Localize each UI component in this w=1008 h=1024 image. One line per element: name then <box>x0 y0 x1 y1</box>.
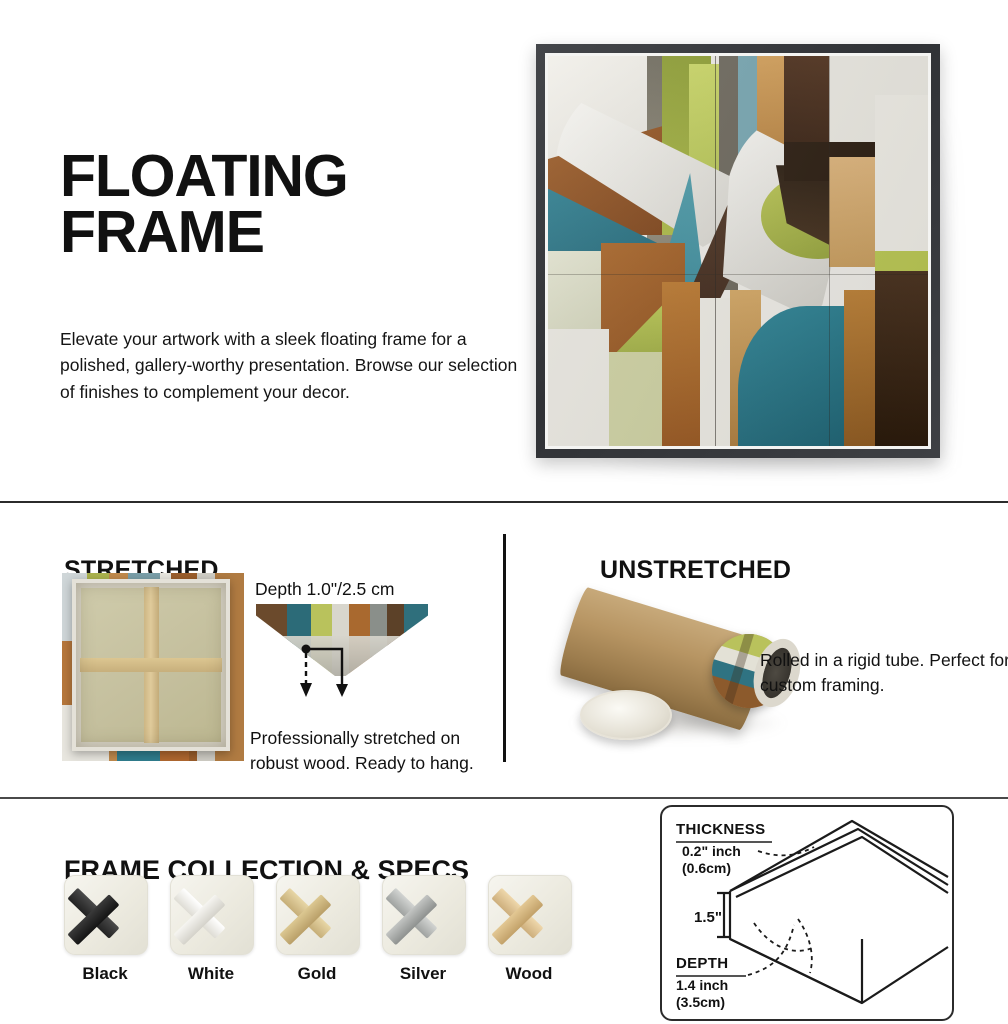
floating-frame-border <box>536 44 940 458</box>
swatch-tile[interactable] <box>276 875 360 955</box>
frame-swatch-black[interactable]: Black <box>64 875 146 984</box>
height-value: 1.5" <box>694 909 722 926</box>
framed-artwork <box>536 44 940 458</box>
swatch-label: Black <box>64 964 146 984</box>
frame-corner-icon <box>64 879 148 899</box>
swatch-tile[interactable] <box>488 875 572 955</box>
stretched-note: Professionally stretched on robust wood.… <box>250 726 500 777</box>
page-title: FLOATING FRAME <box>60 148 500 261</box>
frame-corner-icon <box>276 879 360 899</box>
frame-collection-section: FRAME COLLECTION & SPECS Black <box>0 799 1008 1024</box>
frame-swatch-list: Black White Gold <box>64 875 624 984</box>
hero-subtitle: Elevate your artwork with a sleek floati… <box>60 326 530 406</box>
swatch-tile[interactable] <box>382 875 466 955</box>
infographic-page: FLOATING FRAME Elevate your artwork with… <box>0 0 1008 1024</box>
swatch-tile[interactable] <box>64 875 148 955</box>
swatch-label: Wood <box>488 964 570 984</box>
unstretched-note: Rolled in a rigid tube. Perfect for cust… <box>760 648 1008 699</box>
thickness-value: 0.2" inch (0.6cm) <box>682 843 741 877</box>
swatch-label: Gold <box>276 964 358 984</box>
canvas-stretcher-frame <box>72 579 230 751</box>
depth-annotation-arrows <box>256 643 428 705</box>
depth-value: 1.4 inch (3.5cm) <box>676 977 728 1011</box>
swatch-tile[interactable] <box>170 875 254 955</box>
hero-section: FLOATING FRAME Elevate your artwork with… <box>0 0 1008 502</box>
frame-swatch-silver[interactable]: Silver <box>382 875 464 984</box>
frame-swatch-white[interactable]: White <box>170 875 252 984</box>
thickness-value-inch: 0.2" inch <box>682 843 741 859</box>
frame-corner-icon <box>382 879 466 899</box>
frame-specs-diagram: THICKNESS 0.2" inch (0.6cm) 1.5" DEPTH 1… <box>660 805 954 1021</box>
frame-swatch-wood[interactable]: Wood <box>488 875 570 984</box>
swatch-label: Silver <box>382 964 464 984</box>
depth-label: Depth 1.0"/2.5 cm <box>255 579 394 600</box>
tube-cap <box>580 690 672 740</box>
frame-swatch-gold[interactable]: Gold <box>276 875 358 984</box>
frame-corner-icon <box>488 879 572 899</box>
canvas-inner-shadow <box>76 583 226 747</box>
swatch-label: White <box>170 964 252 984</box>
column-divider <box>503 534 506 762</box>
artwork-canvas <box>548 56 928 446</box>
title-line-2: FRAME <box>60 204 500 261</box>
thickness-label: THICKNESS <box>676 821 765 838</box>
depth-value-inch: 1.4 inch <box>676 977 728 993</box>
thickness-value-cm: (0.6cm) <box>682 860 731 876</box>
stretched-canvas-photo <box>62 573 244 761</box>
depth-spec-label: DEPTH <box>676 955 728 972</box>
depth-value-cm: (3.5cm) <box>676 994 725 1010</box>
frame-corner-icon <box>170 879 254 899</box>
frame-float-gap <box>545 53 931 449</box>
